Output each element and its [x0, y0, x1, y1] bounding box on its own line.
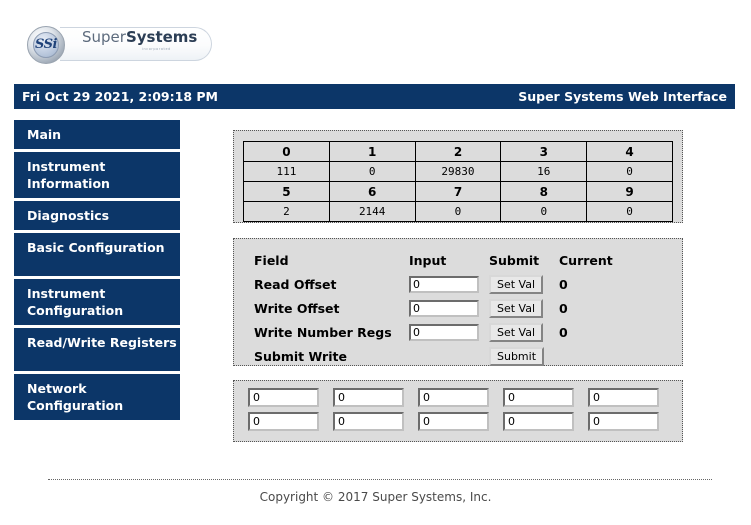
table-row: 5 6 7 8 9	[244, 182, 673, 202]
form-row-read-offset: Read Offset Set Val 0	[254, 272, 619, 296]
column-header-field: Field	[254, 248, 409, 272]
write-value-input-7[interactable]	[418, 412, 489, 431]
form-row-submit-write: Submit Write Submit	[254, 344, 619, 368]
sidebar-item-main[interactable]: Main	[14, 120, 180, 152]
write-number-regs-current-value: 0	[559, 320, 619, 344]
register-index: 2	[415, 142, 501, 162]
clock-display: Fri Oct 29 2021, 2:09:18 PM	[22, 89, 218, 104]
write-value-input-0[interactable]	[248, 388, 319, 407]
footer-divider	[48, 479, 712, 480]
read-offset-set-val-button[interactable]: Set Val	[489, 275, 543, 294]
write-value-input-5[interactable]	[248, 412, 319, 431]
page-header-bar: Fri Oct 29 2021, 2:09:18 PM Super System…	[14, 84, 735, 109]
offsets-form-table: Field Input Submit Current Read Offset S…	[254, 248, 619, 368]
form-row-write-number-regs: Write Number Regs Set Val 0	[254, 320, 619, 344]
write-values-row	[248, 412, 659, 431]
register-value: 16	[501, 162, 587, 182]
register-index: 5	[244, 182, 330, 202]
sidebar-item-network-configuration[interactable]: Network Configuration	[14, 374, 180, 423]
write-offset-set-val-button[interactable]: Set Val	[489, 299, 543, 318]
write-value-input-6[interactable]	[333, 412, 404, 431]
sidebar-item-instrument-information[interactable]: Instrument Information	[14, 152, 180, 201]
write-number-regs-input[interactable]	[409, 324, 479, 341]
write-value-input-3[interactable]	[503, 388, 574, 407]
sidebar-nav: Main Instrument Information Diagnostics …	[14, 120, 180, 423]
column-header-current: Current	[559, 248, 619, 272]
sidebar-item-instrument-configuration[interactable]: Instrument Configuration	[14, 279, 180, 328]
write-values-grid	[248, 388, 659, 431]
register-index: 6	[329, 182, 415, 202]
registers-table: 0 1 2 3 4 111 0 29830 16 0 5 6 7 8 9 2	[243, 141, 673, 222]
write-number-regs-set-val-button[interactable]: Set Val	[489, 323, 543, 342]
offsets-form-panel: Field Input Submit Current Read Offset S…	[233, 238, 683, 366]
logo-wordmark-light: Super	[82, 28, 126, 46]
write-value-input-1[interactable]	[333, 388, 404, 407]
write-value-input-9[interactable]	[588, 412, 659, 431]
write-offset-current-value: 0	[559, 296, 619, 320]
footer-copyright: Copyright © 2017 Super Systems, Inc.	[0, 490, 751, 504]
column-header-submit: Submit	[489, 248, 559, 272]
logo-subtitle: incorporated	[142, 47, 171, 51]
read-offset-input[interactable]	[409, 276, 479, 293]
register-value: 0	[501, 202, 587, 222]
register-value: 29830	[415, 162, 501, 182]
register-index: 8	[501, 182, 587, 202]
register-value: 0	[587, 202, 673, 222]
column-header-input: Input	[409, 248, 489, 272]
write-values-panel	[233, 380, 683, 442]
logo-wordmark: SuperSystems	[82, 30, 197, 45]
register-index: 4	[587, 142, 673, 162]
sidebar-item-read-write-registers[interactable]: Read/Write Registers	[14, 328, 180, 374]
table-row: 2 2144 0 0 0	[244, 202, 673, 222]
write-value-input-8[interactable]	[503, 412, 574, 431]
sidebar-item-diagnostics[interactable]: Diagnostics	[14, 201, 180, 233]
label-write-number-regs: Write Number Regs	[254, 320, 409, 344]
register-value: 0	[415, 202, 501, 222]
register-value: 2144	[329, 202, 415, 222]
label-write-offset: Write Offset	[254, 296, 409, 320]
write-value-input-4[interactable]	[588, 388, 659, 407]
write-value-input-2[interactable]	[418, 388, 489, 407]
register-index: 9	[587, 182, 673, 202]
label-read-offset: Read Offset	[254, 272, 409, 296]
register-index: 0	[244, 142, 330, 162]
write-offset-input[interactable]	[409, 300, 479, 317]
register-index: 7	[415, 182, 501, 202]
table-row: 111 0 29830 16 0	[244, 162, 673, 182]
page-title: Super Systems Web Interface	[518, 89, 727, 104]
form-row-write-offset: Write Offset Set Val 0	[254, 296, 619, 320]
registers-panel: 0 1 2 3 4 111 0 29830 16 0 5 6 7 8 9 2	[233, 130, 683, 223]
label-submit-write: Submit Write	[254, 344, 409, 368]
register-value: 2	[244, 202, 330, 222]
table-row: 0 1 2 3 4	[244, 142, 673, 162]
register-value: 0	[587, 162, 673, 182]
form-header-row: Field Input Submit Current	[254, 248, 619, 272]
register-index: 3	[501, 142, 587, 162]
write-values-row	[248, 388, 659, 407]
site-logo: SSi SuperSystems incorporated	[22, 14, 222, 72]
ssi-badge-label: SSi	[28, 38, 64, 51]
read-offset-current-value: 0	[559, 272, 619, 296]
register-value: 0	[329, 162, 415, 182]
register-value: 111	[244, 162, 330, 182]
logo-wordmark-bold: Systems	[126, 28, 197, 46]
sidebar-item-basic-configuration[interactable]: Basic Configuration	[14, 233, 180, 279]
ssi-badge-icon: SSi	[27, 26, 65, 64]
submit-write-button[interactable]: Submit	[489, 347, 544, 366]
register-index: 1	[329, 142, 415, 162]
